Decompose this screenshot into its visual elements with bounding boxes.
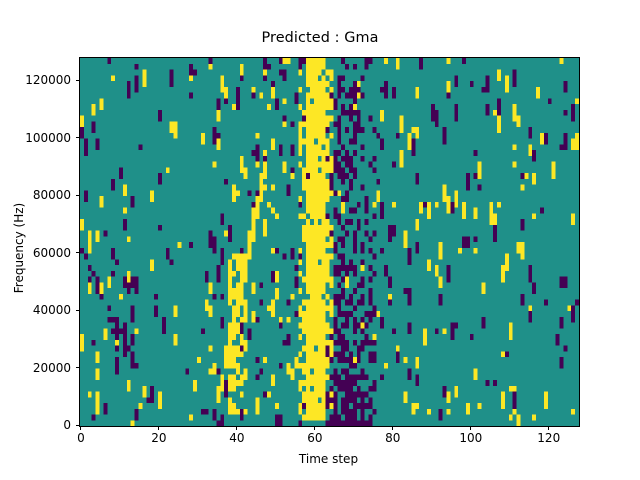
x-tick-label: 0 (77, 431, 85, 445)
x-tick-mark (158, 426, 159, 430)
x-tick-label: 80 (385, 431, 400, 445)
heatmap-axes (79, 57, 580, 427)
y-tick-mark (76, 310, 80, 311)
x-tick-mark (80, 426, 81, 430)
y-tick-mark (76, 367, 80, 368)
heatmap-image (80, 58, 579, 426)
y-tick-mark (76, 80, 80, 81)
y-tick-label: 100000 (0, 131, 71, 145)
x-tick-label: 40 (229, 431, 244, 445)
y-tick-mark (76, 137, 80, 138)
y-tick-mark (76, 195, 80, 196)
x-tick-mark (470, 426, 471, 430)
y-tick-label: 40000 (0, 303, 71, 317)
y-tick-label: 120000 (0, 73, 71, 87)
x-tick-label: 20 (151, 431, 166, 445)
x-tick-label: 120 (537, 431, 560, 445)
x-axis-label: Time step (79, 452, 578, 466)
y-tick-mark (76, 252, 80, 253)
x-tick-mark (392, 426, 393, 430)
y-tick-label: 80000 (0, 188, 71, 202)
x-tick-mark (314, 426, 315, 430)
y-tick-label: 60000 (0, 246, 71, 260)
y-tick-mark (76, 425, 80, 426)
page-title: Predicted : Gma (0, 30, 640, 46)
matplotlib-figure: Predicted : Gma Frequency (Hz) Time step… (0, 0, 640, 480)
x-tick-label: 60 (307, 431, 322, 445)
x-tick-mark (548, 426, 549, 430)
y-tick-label: 20000 (0, 361, 71, 375)
x-tick-mark (236, 426, 237, 430)
x-tick-label: 100 (459, 431, 482, 445)
y-tick-label: 0 (0, 418, 71, 432)
